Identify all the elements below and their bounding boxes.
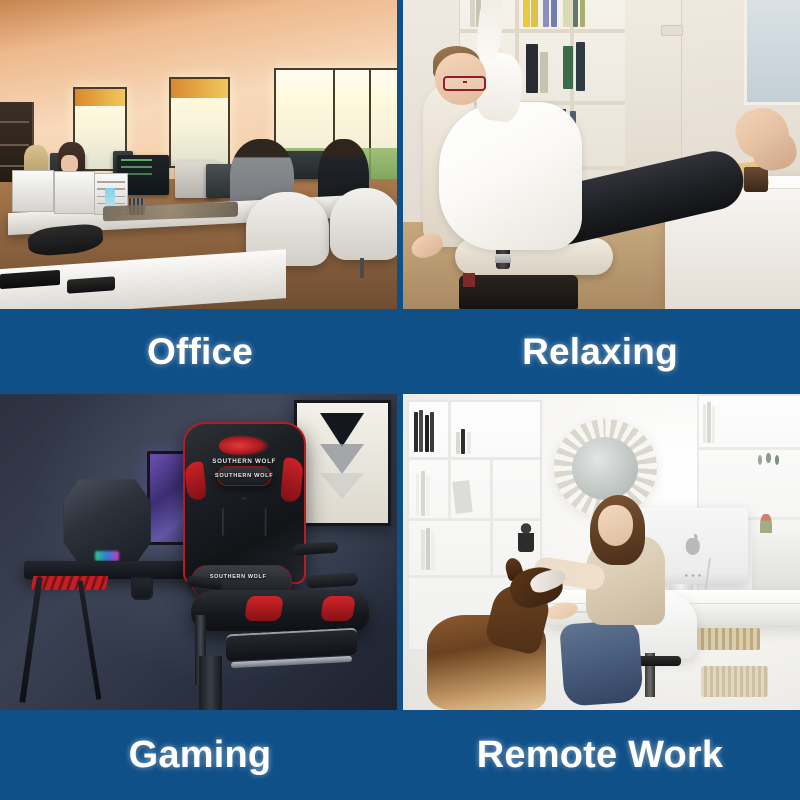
remote-person-jeans <box>559 619 644 706</box>
remote-work-photo <box>403 394 800 710</box>
quadrant-gaming: SOUTHERN WOLF SOUTHERN WOLF SOUTHERN WOL… <box>0 394 397 710</box>
gaming-wall-art <box>294 400 391 526</box>
gaming-chair-wing-right <box>280 457 304 503</box>
quadrant-office <box>0 0 397 309</box>
label-remote-work: Remote Work <box>477 734 723 777</box>
caption-cell-relaxing: Relaxing <box>400 309 800 394</box>
relaxing-person-glasses <box>443 76 487 91</box>
relaxing-photo <box>403 0 800 309</box>
caption-cell-remote-work: Remote Work <box>400 710 800 800</box>
gaming-chair-brand-backrest: SOUTHERN WOLF <box>212 458 276 465</box>
arrow-down-icon <box>320 444 364 474</box>
remote-second-monitor <box>752 533 800 596</box>
remote-storage-basket <box>701 666 768 698</box>
gaming-desk-cup-holder <box>131 577 153 600</box>
gaming-chair-footrest <box>226 628 357 662</box>
gaming-chair-base <box>199 656 223 710</box>
label-relaxing: Relaxing <box>522 331 678 373</box>
relaxing-chair-base <box>459 275 578 309</box>
remote-lower-shelf-books <box>697 628 761 650</box>
gaming-chair-stitch-pattern <box>222 497 266 536</box>
gaming-chair-brand-headrest: SOUTHERN WOLF <box>215 473 274 479</box>
gaming-pc-tower <box>64 479 151 564</box>
office-cabinet-2 <box>54 171 96 213</box>
relaxing-person-torso <box>439 102 582 250</box>
office-cabinet-1 <box>12 170 54 212</box>
quadrant-relaxing <box>403 0 800 309</box>
wolf-head-icon <box>219 435 269 456</box>
product-use-case-collage: Office Relaxing SOUTHERN WOLF <box>0 0 800 800</box>
relaxing-window <box>744 0 800 105</box>
arrow-down-icon <box>320 473 364 499</box>
gaming-chair-seat-accent-1 <box>244 596 283 621</box>
remote-imac-chin <box>683 573 703 578</box>
relaxing-mug <box>744 167 768 192</box>
gaming-chair-seat-accent-2 <box>320 596 355 621</box>
relaxing-wall-outlet <box>661 25 683 36</box>
gaming-chair-wing-left <box>184 461 207 501</box>
office-photo <box>0 0 397 309</box>
gaming-chair-backrest: SOUTHERN WOLF SOUTHERN WOLF <box>183 422 306 584</box>
caption-band-bottom: Gaming Remote Work <box>0 710 800 800</box>
quadrant-remote-work <box>403 394 800 710</box>
gaming-photo: SOUTHERN WOLF SOUTHERN WOLF SOUTHERN WOL… <box>0 394 397 710</box>
remote-small-plant <box>518 533 534 552</box>
label-gaming: Gaming <box>129 734 272 777</box>
label-office: Office <box>147 331 253 373</box>
caption-cell-office: Office <box>0 309 400 394</box>
caption-band-top: Office Relaxing <box>0 309 800 394</box>
apple-logo-icon <box>686 538 700 555</box>
caption-cell-gaming: Gaming <box>0 710 400 800</box>
arrow-down-icon <box>320 413 364 447</box>
remote-person-head <box>598 505 634 546</box>
office-chair-2 <box>330 188 398 259</box>
office-window-center <box>169 77 231 168</box>
